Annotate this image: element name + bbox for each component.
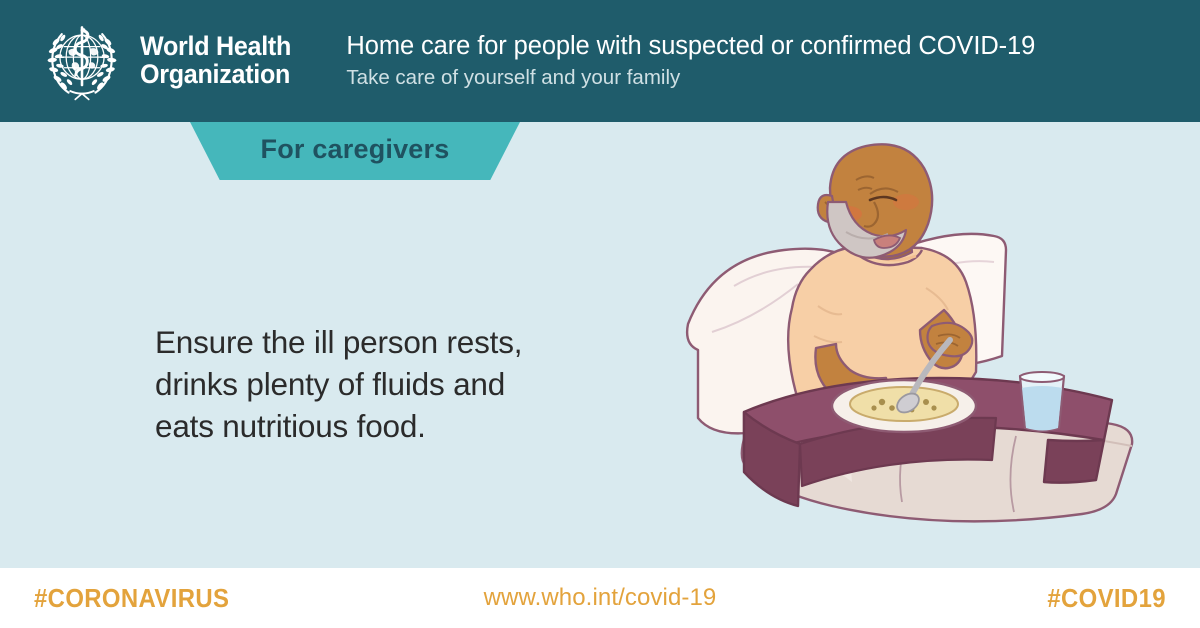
who-wordmark: World Health Organization <box>140 33 291 89</box>
who-logo: World Health Organization <box>34 13 302 109</box>
header-bar: World Health Organization Home care for … <box>0 0 1200 122</box>
footer-url[interactable]: www.who.int/covid-19 <box>0 584 1200 612</box>
banner-label: For caregivers <box>190 122 520 180</box>
header-text-block: Home care for people with suspected or c… <box>346 31 1035 90</box>
water-fill <box>1022 386 1062 431</box>
cheek-flush-right <box>893 194 919 210</box>
man-in-bed-eating-soup-illustration <box>660 140 1200 570</box>
footer-bar: #CORONAVIRUS www.who.int/covid-19 #COVID… <box>0 568 1200 628</box>
advice-message: Ensure the ill person rests, drinks plen… <box>155 322 625 448</box>
header-subtitle: Take care of yourself and your family <box>346 65 1035 91</box>
who-covid19-infographic-poster: World Health Organization Home care for … <box>0 0 1200 628</box>
who-wordmark-line2: Organization <box>140 61 291 89</box>
audience-banner: For caregivers <box>190 122 520 180</box>
who-emblem-icon <box>34 13 130 109</box>
who-wordmark-line1: World Health <box>140 33 291 61</box>
header-title: Home care for people with suspected or c… <box>346 31 1035 62</box>
glass-rim <box>1020 372 1064 382</box>
water-glass-shape <box>1020 372 1064 431</box>
head-shape <box>818 144 932 257</box>
footer-hashtag-covid19[interactable]: #COVID19 <box>1047 583 1166 614</box>
